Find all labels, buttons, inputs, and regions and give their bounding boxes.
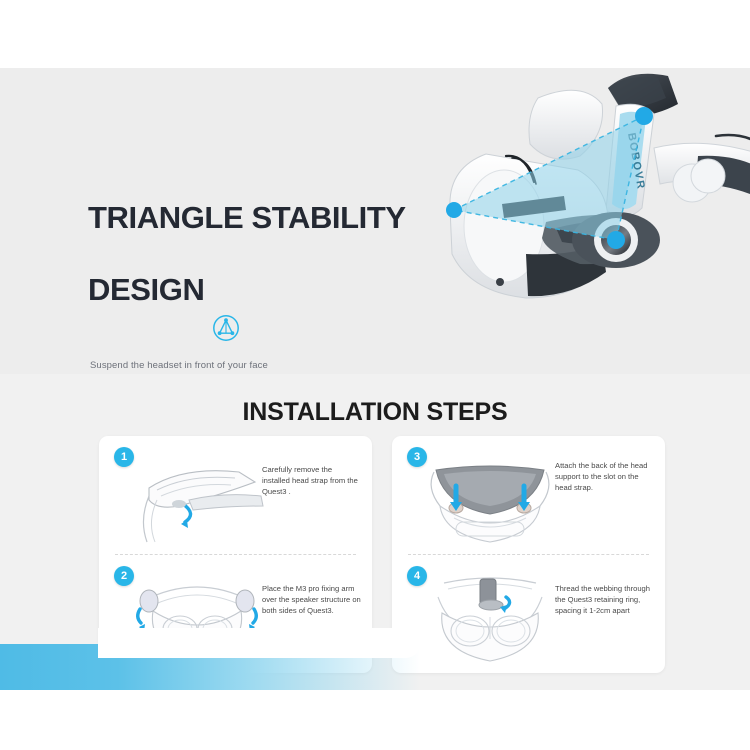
product-hero-illustration: BOBOVR bbox=[430, 68, 750, 358]
head-support-slot-illustration bbox=[420, 448, 560, 546]
hero-title-line-1: TRIANGLE STABILITY bbox=[88, 200, 458, 236]
stability-point-front bbox=[446, 202, 462, 218]
triangle-stability-logo-icon bbox=[211, 277, 241, 307]
page-title: TRIANGLE STABILITY DESIGN bbox=[88, 164, 458, 344]
hero-section: TRIANGLE STABILITY DESIGN bbox=[0, 68, 750, 374]
step-text-2: Place the M3 pro fixing arm over the spe… bbox=[262, 583, 362, 616]
steps-card-right: 3 bbox=[392, 436, 665, 673]
infographic-page: TRIANGLE STABILITY DESIGN bbox=[0, 0, 750, 750]
stability-point-dial bbox=[607, 231, 625, 249]
top-white-band bbox=[0, 0, 750, 68]
hero-title-line-2: DESIGN bbox=[88, 272, 204, 308]
step-item-1: 1 Caref bbox=[99, 436, 372, 555]
head-strap-removal-illustration bbox=[127, 448, 267, 546]
hero-title-line-2-row: DESIGN bbox=[88, 272, 458, 308]
step-text-4: Thread the webbing through the Quest3 re… bbox=[555, 583, 655, 616]
step-text-3: Attach the back of the head support to t… bbox=[555, 460, 655, 493]
step-item-4: 4 bbox=[392, 555, 665, 674]
step-item-3: 3 bbox=[392, 436, 665, 555]
footer-gradient-notch bbox=[98, 628, 420, 658]
hero-subtitle: Suspend the headset in front of your fac… bbox=[90, 360, 458, 371]
stability-point-rear bbox=[635, 107, 653, 125]
step-text-1: Carefully remove the installed head stra… bbox=[262, 464, 362, 497]
installation-steps-title: INSTALLATION STEPS bbox=[0, 398, 750, 427]
hero-copy-block: TRIANGLE STABILITY DESIGN bbox=[88, 164, 458, 371]
webbing-retaining-ring-illustration bbox=[420, 567, 560, 665]
footer-white-band bbox=[0, 690, 750, 750]
